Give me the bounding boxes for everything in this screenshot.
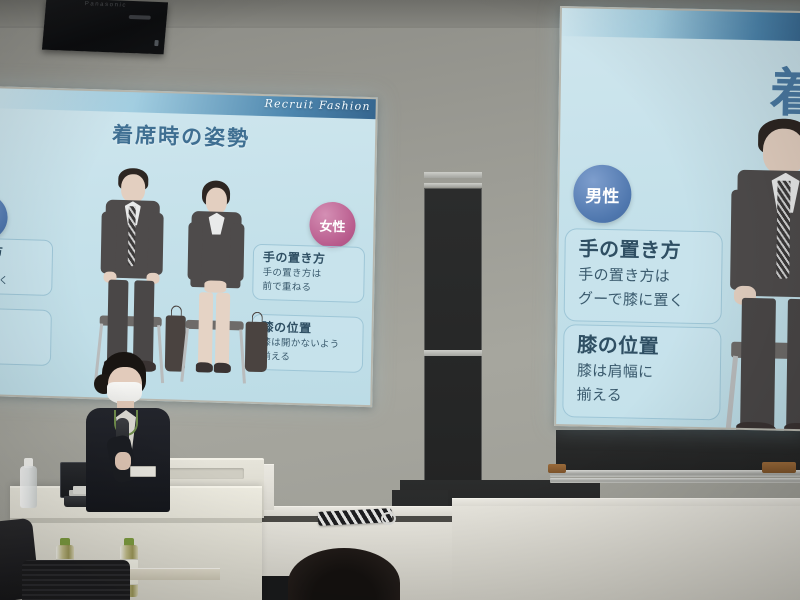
presenter-name-badge (130, 466, 156, 477)
water-bottle[interactable] (20, 466, 37, 508)
chalk-rail-lower (550, 478, 800, 483)
blackboard-slider-top2 (424, 183, 482, 187)
presenter (74, 352, 192, 512)
blackboard-slider-top (424, 172, 482, 178)
blackboard-center (424, 188, 482, 488)
screen-frame-right (554, 6, 800, 431)
speaker-vent-icon (129, 15, 151, 20)
presenter-hand (115, 452, 131, 470)
classroom-photo: Panasonic Recruit Fashion 着席時の姿勢 男性 女性 手… (0, 0, 800, 600)
necktie-ring-icon (381, 512, 396, 525)
side-desk-face (612, 506, 800, 600)
blackboard-eraser-right[interactable] (762, 462, 796, 473)
lectern-lip (10, 518, 262, 523)
blackboard-eraser-left[interactable] (548, 464, 566, 473)
blackboard-slider-mid (424, 350, 482, 356)
front-desk-face-right (452, 506, 612, 600)
foreground-chair-back[interactable] (22, 560, 130, 600)
speaker-brand-label: Panasonic (68, 1, 144, 10)
speaker-led-icon (154, 40, 159, 46)
ceiling-speaker: Panasonic (42, 0, 168, 54)
projection-screen-right: 着 男性 手の置き方 手の置き方は グーで膝に置く 膝の位置 膝は肩幅に 揃える (554, 6, 800, 431)
